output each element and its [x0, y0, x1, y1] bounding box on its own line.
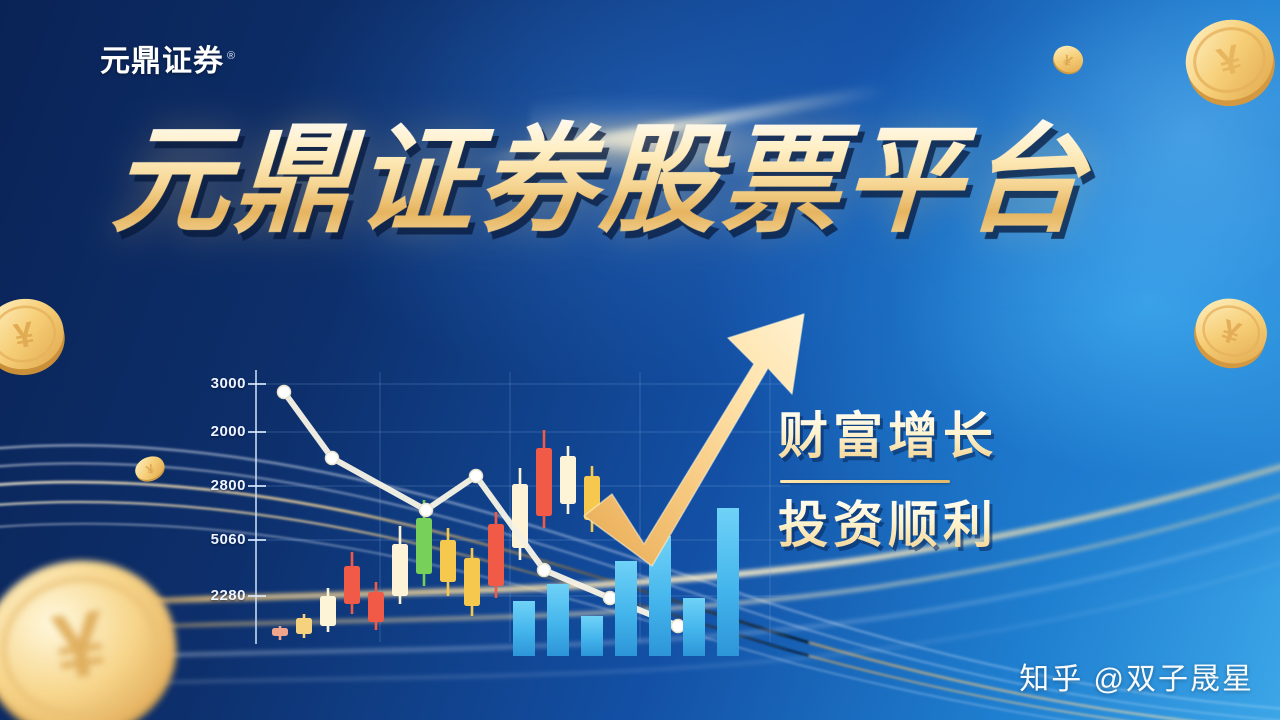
- candle-body: [392, 544, 408, 596]
- svg-text:¥: ¥: [1217, 312, 1245, 352]
- tagline-secondary: 投资顺利: [778, 497, 1048, 553]
- brand-logo-text: 元鼎证券: [100, 36, 224, 80]
- y-axis-tick-label: 5060: [188, 531, 246, 548]
- candle-body: [320, 596, 336, 626]
- y-axis-tick-label: 2800: [188, 477, 246, 494]
- y-axis-tick-label: 2280: [188, 587, 246, 604]
- banner-canvas: 元鼎证券 ® 元鼎证券股票平台: [0, 0, 1280, 720]
- svg-text:¥: ¥: [47, 592, 112, 700]
- candle-body: [272, 628, 288, 636]
- brand-logo[interactable]: 元鼎证券 ®: [100, 36, 235, 80]
- bar: [513, 601, 535, 656]
- candle-body: [368, 592, 384, 622]
- tagline-block: 财富增长 投资顺利: [778, 408, 1048, 553]
- yuan-coin-icon: ¥: [132, 452, 168, 486]
- candle-body: [464, 558, 480, 606]
- candle-body: [296, 618, 312, 634]
- trend-point: [470, 470, 483, 483]
- tagline-primary: 财富增长: [778, 408, 1048, 464]
- candle-body: [416, 518, 432, 574]
- candle-body: [440, 540, 456, 582]
- svg-text:¥: ¥: [1213, 37, 1247, 86]
- trend-point: [278, 386, 291, 399]
- y-axis-tick-label: 2000: [188, 423, 246, 440]
- tagline-divider: [780, 480, 950, 483]
- svg-text:¥: ¥: [144, 461, 157, 478]
- candle-body: [488, 524, 504, 586]
- watermark: 知乎 @双子晟星: [1019, 654, 1254, 698]
- yuan-coin-icon: ¥: [0, 286, 70, 384]
- bar: [581, 616, 603, 656]
- trend-point: [326, 452, 339, 465]
- yuan-coin-icon: ¥: [1050, 42, 1086, 78]
- y-axis-ticks: [248, 384, 266, 596]
- bar: [547, 584, 569, 656]
- svg-text:¥: ¥: [1060, 52, 1075, 71]
- svg-text:¥: ¥: [11, 315, 37, 357]
- yuan-coin-icon: ¥: [1188, 286, 1274, 378]
- y-axis-tick-label: 3000: [188, 375, 246, 392]
- trend-point: [420, 504, 433, 517]
- yuan-coin-icon: ¥: [1178, 6, 1280, 118]
- registered-trademark-icon: ®: [227, 50, 235, 62]
- yuan-coin-icon: ¥: [0, 548, 190, 720]
- candle-body: [344, 566, 360, 604]
- page-title: 元鼎证券股票平台: [109, 118, 1186, 245]
